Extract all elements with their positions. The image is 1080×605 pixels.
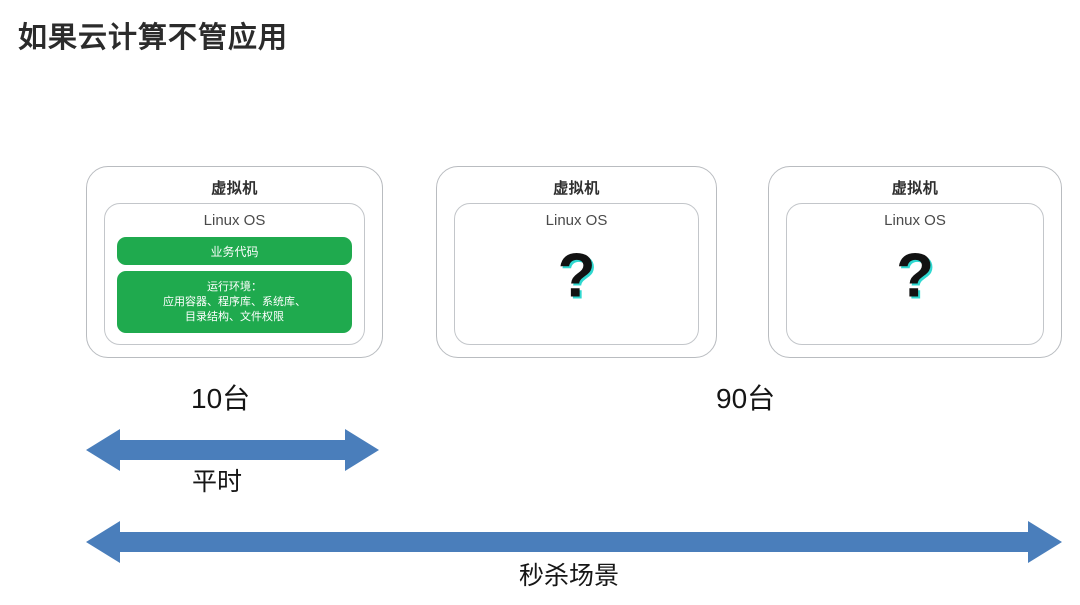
vm-card-2: 虚拟机 Linux OS ? [436,166,717,358]
os-label-1: Linux OS [105,212,364,229]
layer-runtime-environment: 运行环境： 应用容器、程序库、系统库、 目录结构、文件权限 [117,271,352,333]
os-label-3: Linux OS [787,212,1043,229]
os-card-1: Linux OS 业务代码 运行环境： 应用容器、程序库、系统库、 目录结构、文… [104,203,365,345]
page-title: 如果云计算不管应用 [18,14,288,56]
question-mark-icon-3: ? [787,245,1043,307]
os-card-3: Linux OS ? [786,203,1044,345]
vm-count-right: 90台 [716,377,775,417]
normal-period-label: 平时 [192,462,242,498]
runtime-line-3: 目录结构、文件权限 [185,310,284,325]
vm-card-1: 虚拟机 Linux OS 业务代码 运行环境： 应用容器、程序库、系统库、 目录… [86,166,383,358]
question-mark-icon-2: ? [455,245,698,307]
vm-title-3: 虚拟机 [769,177,1061,198]
os-card-2: Linux OS ? [454,203,699,345]
runtime-line-1: 运行环境： [207,280,262,295]
vm-title-2: 虚拟机 [437,177,716,198]
runtime-line-2: 应用容器、程序库、系统库、 [163,295,306,310]
vm-count-left: 10台 [191,377,250,417]
layer-stack-1: 业务代码 运行环境： 应用容器、程序库、系统库、 目录结构、文件权限 [117,237,352,336]
vm-title-1: 虚拟机 [87,177,382,198]
vm-card-3: 虚拟机 Linux OS ? [768,166,1062,358]
layer-business-code: 业务代码 [117,237,352,265]
flash-sale-label: 秒杀场景 [519,556,619,592]
os-label-2: Linux OS [455,212,698,229]
